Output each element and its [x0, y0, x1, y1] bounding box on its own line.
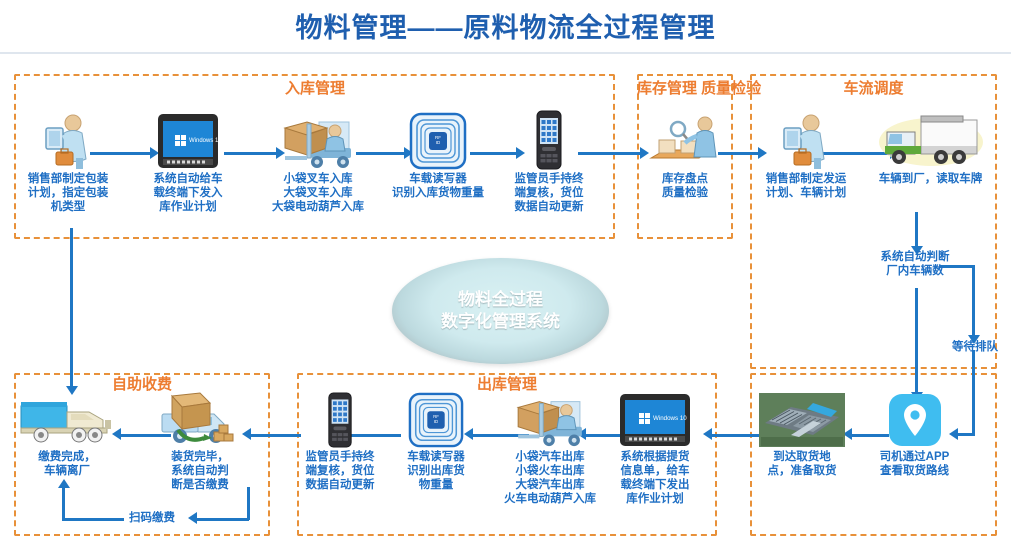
arrow-11 — [703, 428, 712, 440]
node-pda-in[interactable]: 监管员手持终 端复核，货位 数据自动更新 — [500, 110, 598, 214]
forklift-icon — [487, 392, 613, 448]
node-forklift-out[interactable]: 小袋汽车出库 小袋火车出库 大袋汽车出库 火车电动葫芦入库 — [487, 392, 613, 506]
node-truck-arrive[interactable]: 车辆到厂，读取车牌 — [858, 110, 1003, 186]
handheld-pda-icon — [292, 392, 388, 448]
svg-text:ID: ID — [436, 140, 441, 145]
node-caption: 库存盘点 质量检验 — [639, 172, 731, 200]
rfid-reader-icon: RF ID — [388, 110, 488, 170]
map-pin-app-icon — [862, 392, 967, 448]
node-caption: 监管员手持终 端复核，货位 数据自动更新 — [500, 172, 598, 214]
panel-title-inbound: 入库管理 — [250, 80, 380, 97]
inspection-icon — [639, 110, 731, 170]
node-caption: 小袋汽车出库 小袋火车出库 大袋汽车出库 火车电动葫芦入库 — [487, 450, 613, 506]
node-pda-out[interactable]: 监管员手持终 端复核，货位 数据自动更新 — [292, 392, 388, 492]
panel-title-selfpay: 自助收费 — [14, 376, 270, 393]
node-rfid-out[interactable]: RF ID 车载读写器 识别出库货 物重量 — [390, 392, 482, 492]
connector-scanpay-v2 — [62, 487, 65, 520]
node-stock-check[interactable]: 库存盘点 质量检验 — [639, 110, 731, 200]
node-caption: 销售部制定发运 计划、车辆计划 — [752, 172, 860, 200]
node-driver-app[interactable]: 司机通过APP 查看取货路线 — [862, 392, 967, 478]
diagram-canvas: 物料管理——原料物流全过程管理 入库管理 库存管理 质量检验 车流调度 自助收费… — [0, 0, 1011, 548]
panel-title-dispatch: 车流调度 — [750, 80, 997, 97]
node-system-pickup-plan[interactable]: Windows 10 系统根据提货 信息单，给车 载终端下发出 库作业计划 — [606, 392, 704, 506]
rfid-reader-icon: RF ID — [390, 392, 482, 448]
node-caption: 销售部制定包装 计划，指定包装 机类型 — [8, 172, 128, 214]
page-title: 物料管理——原料物流全过程管理 — [0, 6, 1011, 45]
label-scan-pay: 扫码缴费 — [110, 511, 194, 525]
node-arrive-pickup[interactable]: 到达取货地 点，准备取货 — [752, 392, 852, 478]
warehouse-aerial-icon — [752, 392, 852, 448]
node-caption: 到达取货地 点，准备取货 — [752, 450, 852, 478]
svg-text:ID: ID — [434, 419, 438, 424]
node-system-dispatch-in[interactable]: Windows 10 系统自动给车 载终端下发入 库作业计划 — [140, 110, 236, 214]
core-system-badge: 物料全过程 数字化管理系统 — [392, 258, 609, 364]
node-rfid-in[interactable]: RF ID 车载读写器 识别入库货物重量 — [388, 110, 488, 200]
connector-scanpay-h1 — [196, 518, 249, 521]
connector-queue-v2 — [972, 350, 975, 435]
connector-9 — [915, 288, 918, 394]
core-label: 物料全过程 数字化管理系统 — [441, 289, 560, 333]
node-caption: 车辆到厂，读取车牌 — [858, 172, 1003, 186]
connector-left-long — [70, 228, 73, 388]
node-caption: 小袋叉车入库 大袋叉车入库 大袋电动葫芦入库 — [258, 172, 378, 214]
node-caption: 系统根据提货 信息单，给车 载终端下发出 库作业计划 — [606, 450, 704, 506]
blue-truck-icon — [14, 392, 120, 448]
svg-text:Windows 10: Windows 10 — [653, 415, 687, 422]
node-sales-ship-plan[interactable]: 销售部制定发运 计划、车辆计划 — [752, 110, 860, 200]
worker-tablet-icon — [8, 110, 128, 170]
node-caption: 司机通过APP 查看取货路线 — [862, 450, 967, 478]
worker-tablet-icon — [752, 110, 860, 170]
node-pay-done[interactable]: 缴费完成， 车辆离厂 — [14, 392, 120, 478]
node-sales-pack-plan[interactable]: 销售部制定包装 计划，指定包装 机类型 — [8, 110, 128, 214]
truck-icon — [858, 110, 1003, 170]
forklift-icon — [258, 110, 378, 170]
panel-title-outbound: 出库管理 — [297, 376, 717, 393]
node-caption: 车载读写器 识别入库货物重量 — [388, 172, 488, 200]
svg-text:Windows 10: Windows 10 — [189, 138, 221, 144]
arrow-scanpay-up — [58, 479, 70, 488]
node-caption: 车载读写器 识别出库货 物重量 — [390, 450, 482, 492]
delivery-van-icon — [152, 392, 248, 448]
title-divider — [0, 52, 1011, 54]
label-system-count-cars: 系统自动判断 厂内车辆数 — [855, 250, 975, 278]
node-forklift-in[interactable]: 小袋叉车入库 大袋叉车入库 大袋电动葫芦入库 — [258, 110, 378, 214]
node-load-done[interactable]: 装货完毕， 系统自动判 断是否缴费 — [152, 392, 248, 492]
handheld-pda-icon — [500, 110, 598, 170]
windows-terminal-icon: Windows 10 — [606, 392, 704, 448]
connector-8 — [915, 212, 918, 248]
node-caption: 系统自动给车 载终端下发入 库作业计划 — [140, 172, 236, 214]
node-caption: 监管员手持终 端复核，货位 数据自动更新 — [292, 450, 388, 492]
node-caption: 装货完毕， 系统自动判 断是否缴费 — [152, 450, 248, 492]
windows-terminal-icon: Windows 10 — [140, 110, 236, 170]
node-caption: 缴费完成， 车辆离厂 — [14, 450, 120, 478]
label-wait-queue: 等待排队 — [940, 340, 1010, 354]
panel-title-inventory: 库存管理 质量检验 — [637, 80, 733, 97]
